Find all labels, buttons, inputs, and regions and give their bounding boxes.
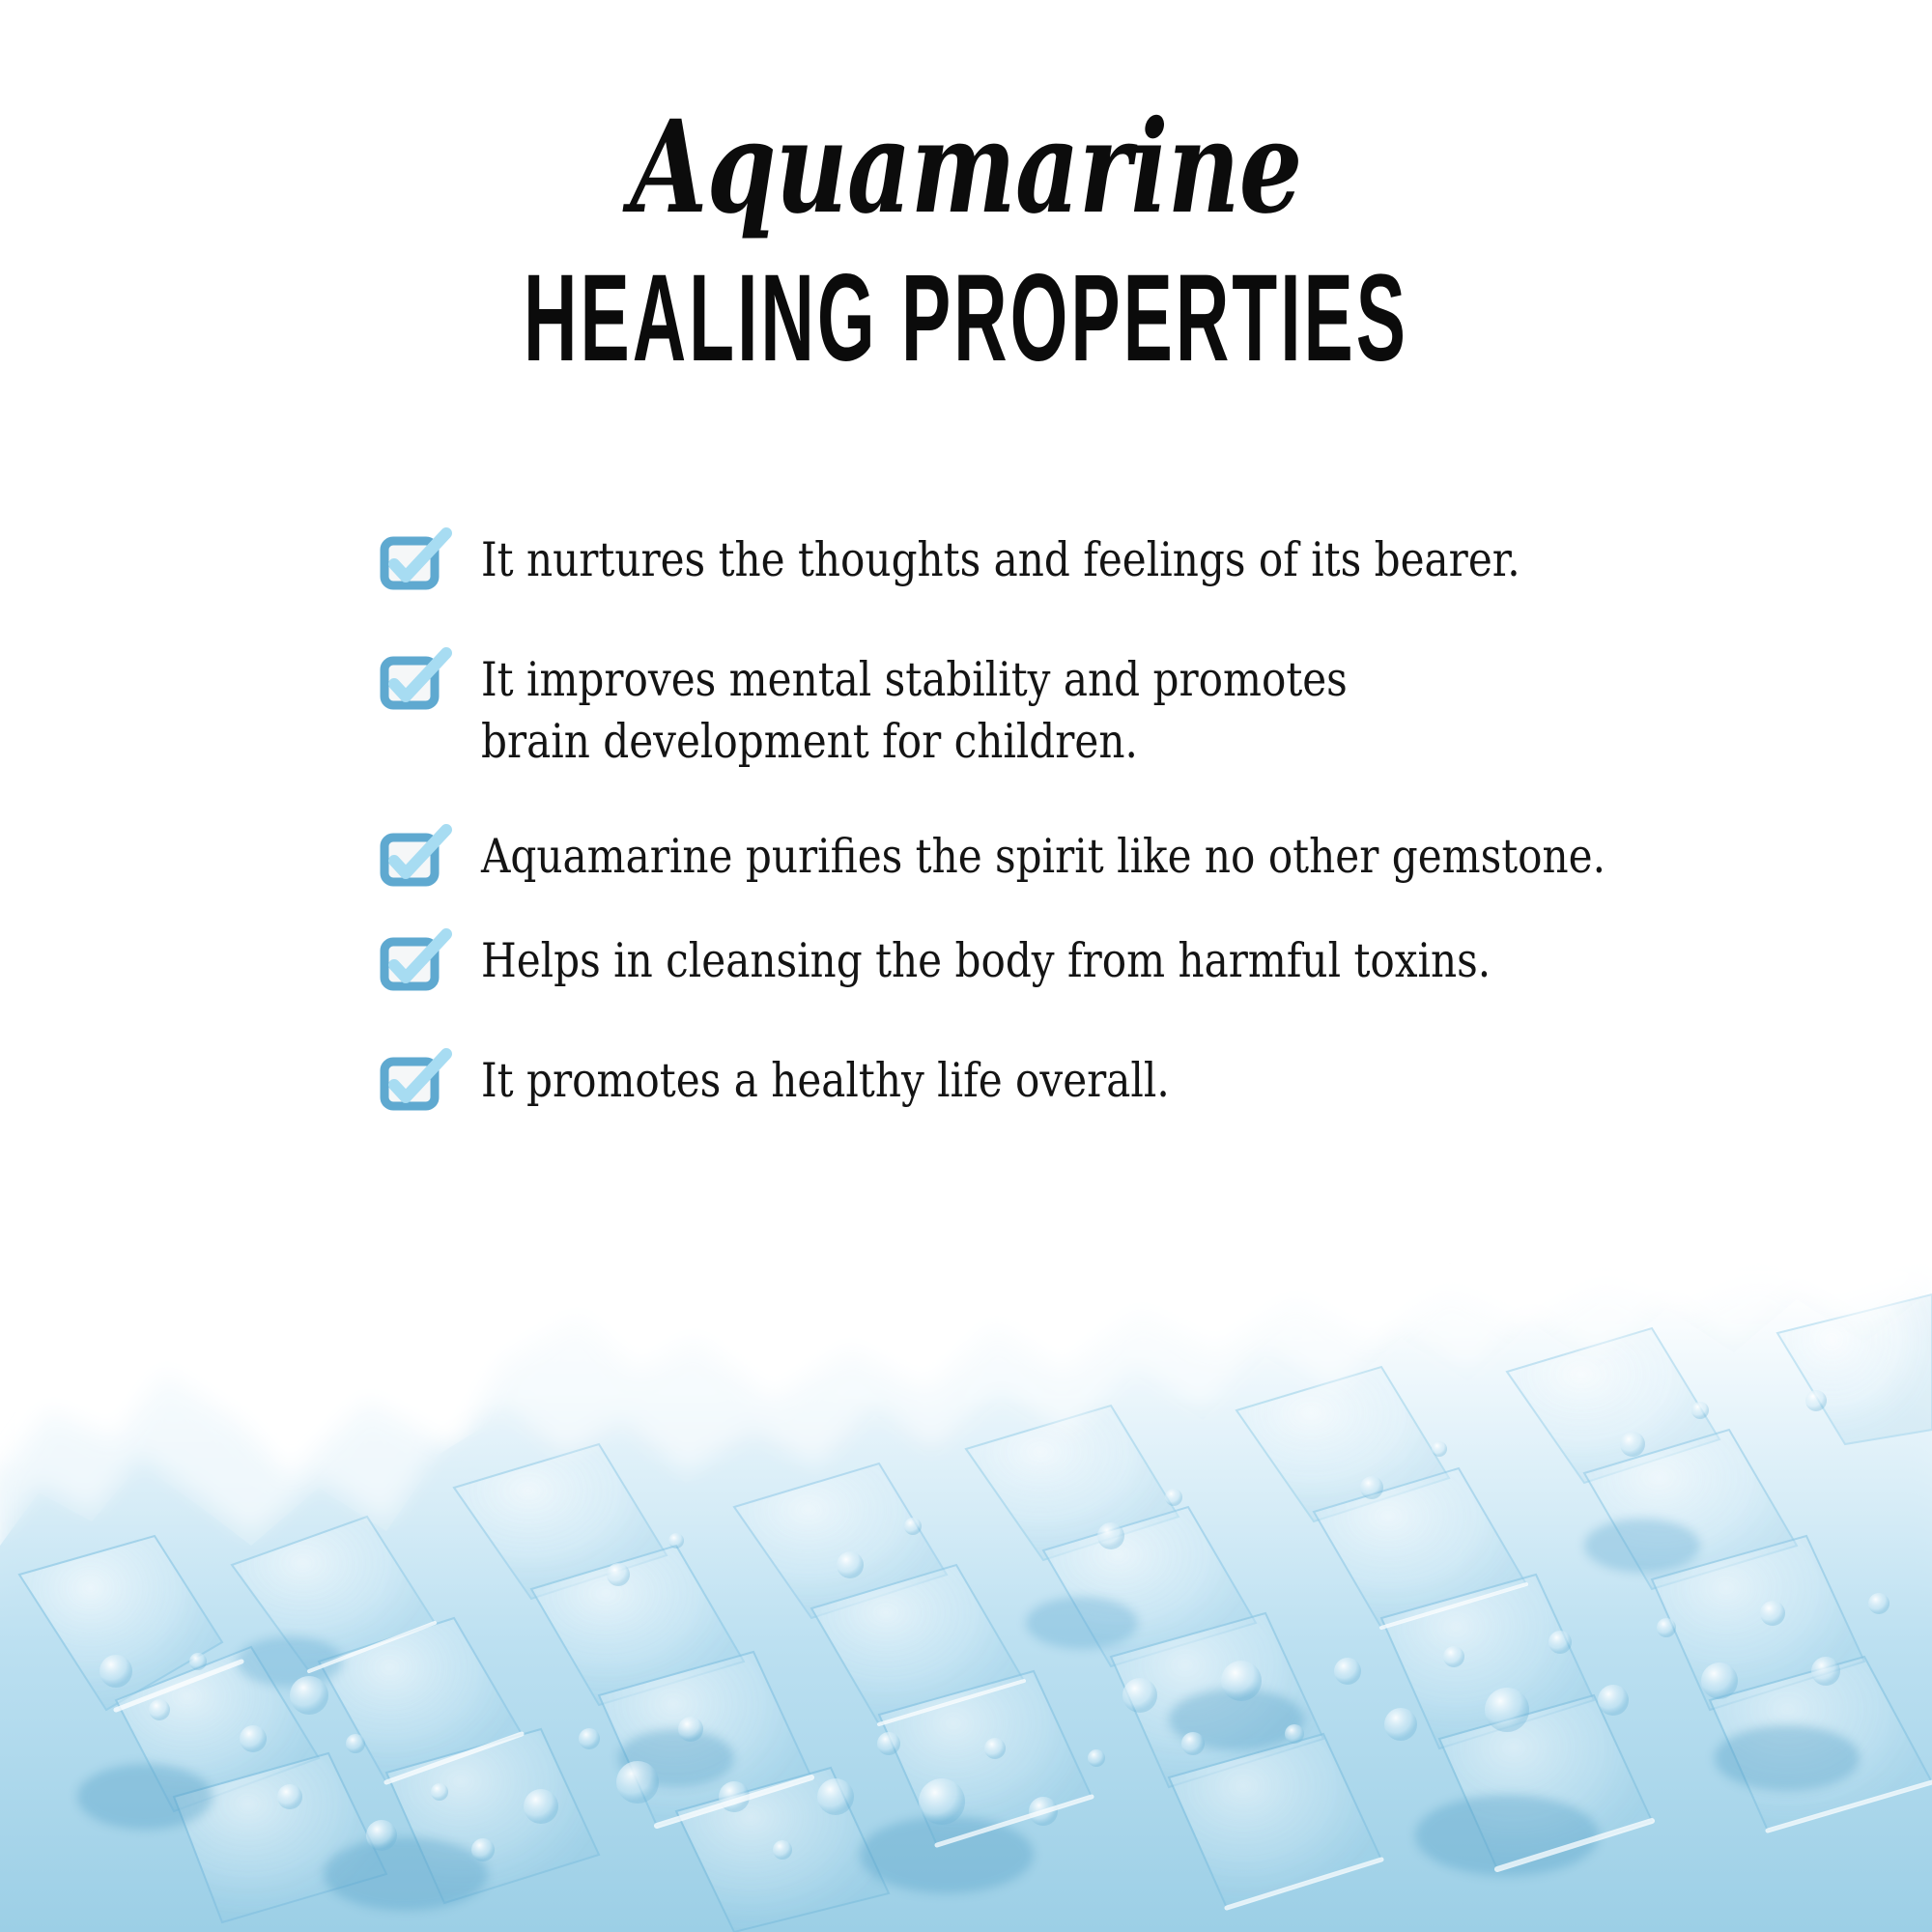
checkbox-checked-icon	[379, 655, 439, 715]
list-item-text: Helps in cleansing the body from harmful…	[481, 930, 1491, 992]
list-item: Aquamarine purifies the spirit like no o…	[379, 826, 1886, 892]
page-title-sans: HEALING PROPERTIES	[386, 232, 1546, 381]
poster-canvas: Aquamarine HEALING PROPERTIES It nurture…	[0, 0, 1932, 1932]
heading-block: Aquamarine HEALING PROPERTIES	[0, 0, 1932, 381]
list-item: It improves mental stability and promote…	[379, 649, 1886, 772]
ice-cubes-photo	[0, 1256, 1932, 1932]
checkbox-checked-icon	[379, 1056, 439, 1116]
list-item: Helps in cleansing the body from harmful…	[379, 930, 1886, 996]
checkbox-checked-icon	[379, 535, 439, 595]
page-title-script: Aquamarine	[213, 0, 1719, 232]
checkbox-checked-icon	[379, 936, 439, 996]
list-item-text: It nurtures the thoughts and feelings of…	[481, 529, 1520, 591]
list-item-text: It improves mental stability and promote…	[481, 649, 1348, 772]
list-item: It promotes a healthy life overall.	[379, 1050, 1886, 1116]
list-item: It nurtures the thoughts and feelings of…	[379, 529, 1886, 595]
list-item-text: It promotes a healthy life overall.	[481, 1050, 1170, 1112]
healing-properties-list: It nurtures the thoughts and feelings of…	[379, 529, 1886, 1170]
checkbox-checked-icon	[379, 832, 439, 892]
list-item-text: Aquamarine purifies the spirit like no o…	[481, 826, 1605, 888]
